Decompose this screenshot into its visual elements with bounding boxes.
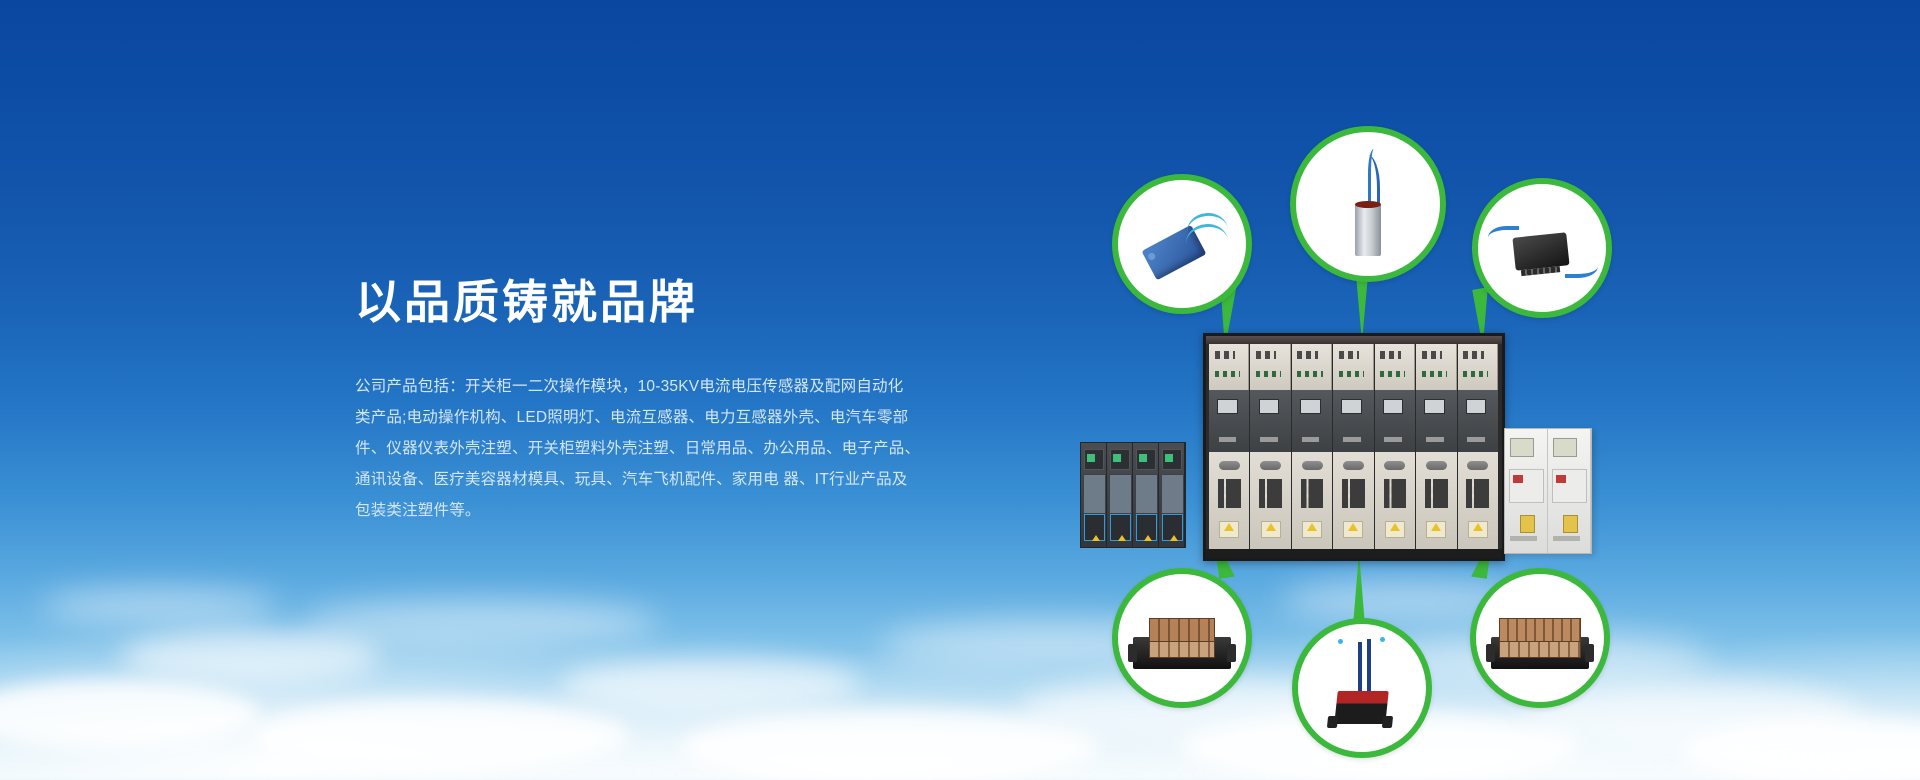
bubble-ring: [1112, 174, 1252, 314]
banner-description: 公司产品包括：开关柜一二次操作模块，10-35KV电流电压传感器及配网自动化 类…: [355, 371, 835, 526]
black-module-with-leads-icon: [1478, 184, 1606, 312]
bubble-ring: [1112, 568, 1252, 708]
bubble-tail-bottom-center: [1353, 552, 1365, 626]
description-line-2: 类产品;电动操作机构、LED照明灯、电流互感器、电力互感器外壳、电汽车零部: [355, 402, 835, 433]
product-diagram: [1040, 90, 1660, 710]
hero-banner: 以品质铸就品牌 公司产品包括：开关柜一二次操作模块，10-35KV电流电压传感器…: [0, 0, 1920, 780]
dark-switchgear-cabinet: [1080, 442, 1186, 548]
terminal-block-transformer-wide-icon: [1476, 574, 1604, 702]
red-black-coil-module-icon: [1298, 624, 1426, 752]
main-switchgear-lineup: [1203, 333, 1505, 561]
page-title: 以品质铸就品牌: [355, 276, 835, 329]
blue-rectangular-sensor-icon: [1118, 180, 1246, 308]
bubble-ring: [1290, 126, 1446, 282]
terminal-block-transformer-small-icon: [1118, 574, 1246, 702]
description-line-5: 包装类注塑件等。: [355, 495, 835, 526]
description-line-1: 公司产品包括：开关柜一二次操作模块，10-35KV电流电压传感器及配网自动化: [355, 371, 835, 402]
silver-cylinder-sensor-icon: [1296, 132, 1440, 276]
banner-copy: 以品质铸就品牌 公司产品包括：开关柜一二次操作模块，10-35KV电流电压传感器…: [355, 276, 835, 526]
bubble-ring: [1472, 178, 1612, 318]
white-ring-main-unit: [1504, 428, 1592, 554]
description-line-4: 通讯设备、医疗美容器材模具、玩具、汽车飞机配件、家用电 器、IT行业产品及: [355, 464, 835, 495]
description-line-3: 件、仪器仪表外壳注塑、开关柜塑料外壳注塑、日常用品、办公用品、电子产品、: [355, 433, 835, 464]
bubble-ring: [1292, 618, 1432, 758]
bubble-ring: [1470, 568, 1610, 708]
